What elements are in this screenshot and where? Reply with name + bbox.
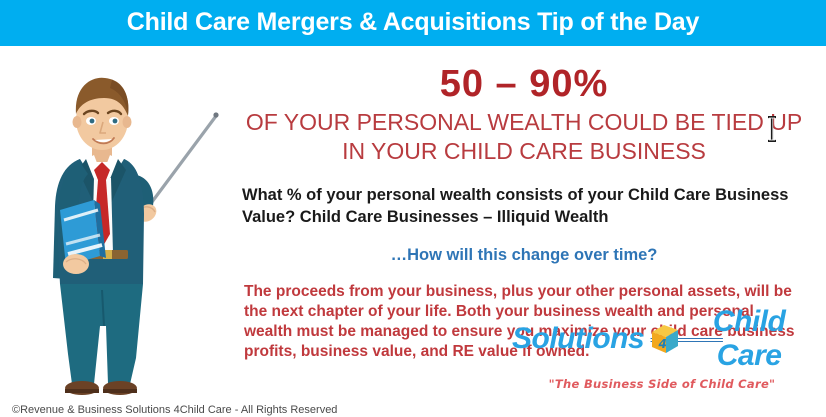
body-question-text: What % of your personal wealth consists … <box>236 184 812 228</box>
change-over-time-text: …How will this change over time? <box>236 244 812 266</box>
copyright-text: ©Revenue & Business Solutions 4Child Car… <box>12 404 337 417</box>
header-banner: Child Care Mergers & Acquisitions Tip of… <box>0 0 826 46</box>
page-title: Child Care Mergers & Acquisitions Tip of… <box>127 7 699 37</box>
logo-tagline: "The Business Side of Child Care" <box>512 377 812 391</box>
businessman-illustration <box>20 58 235 403</box>
headline-percent: 50 – 90% <box>236 62 812 106</box>
headline-subtitle: OF YOUR PERSONAL WEALTH COULD BE TIED UP… <box>236 108 812 166</box>
logo-word-solutions: Solutions <box>512 322 644 356</box>
logo-cube-icon: 4 <box>648 323 682 355</box>
company-logo: Solutions 4 Child Care "The Business Sid… <box>512 305 812 391</box>
svg-text:4: 4 <box>658 337 667 351</box>
logo-word-childcare: Child Care <box>686 305 812 373</box>
logo-wordmark: Solutions 4 Child Care <box>512 305 812 373</box>
pointer-stick-icon <box>146 112 219 210</box>
slide-body: 50 – 90% OF YOUR PERSONAL WEALTH COULD B… <box>0 46 826 413</box>
